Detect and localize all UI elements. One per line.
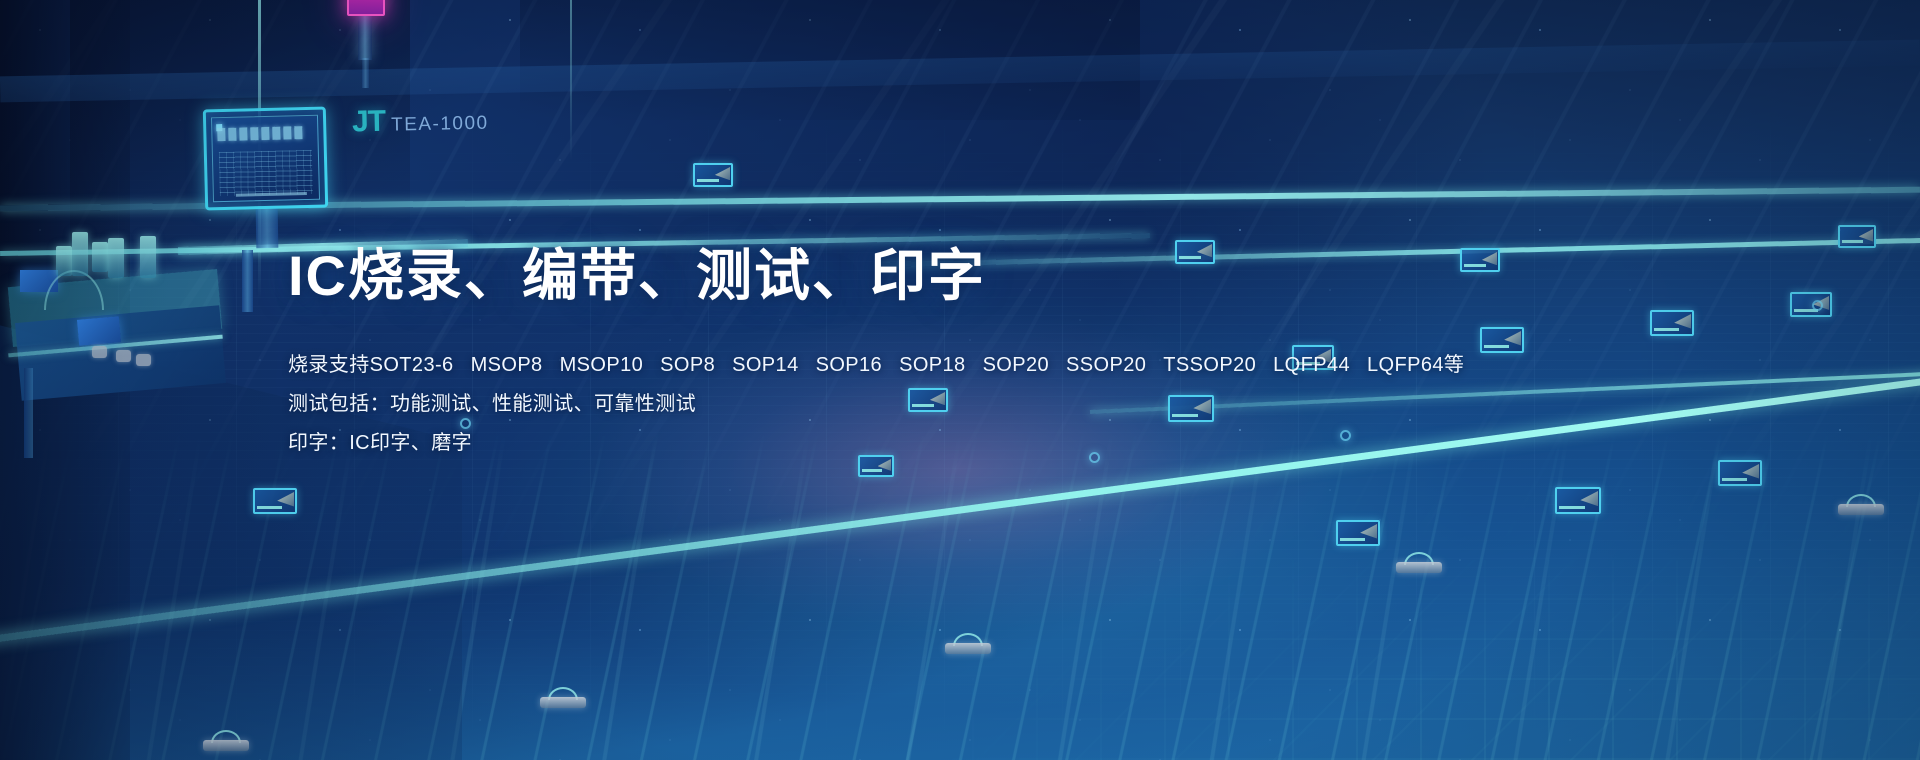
page-title: IC烧录、编带、测试、印字 — [288, 246, 1588, 306]
pneumatic-cylinder — [56, 246, 72, 276]
pneumatic-cylinder — [92, 242, 108, 272]
monitor-glyph-icon — [1555, 487, 1601, 514]
package-name: SOT23-6 — [370, 346, 454, 385]
package-name: SSOP20 — [1066, 346, 1146, 385]
pneumatic-cylinder — [140, 236, 156, 278]
rail-mount-bracket — [540, 687, 586, 707]
package-name: LQFP64等 — [1367, 346, 1464, 385]
monitor-screen — [211, 115, 320, 203]
package-name: SOP8 — [660, 346, 715, 385]
monitor-glyph-icon — [1838, 225, 1876, 248]
subline-marking-scope: 印字：IC印字、磨字 — [288, 424, 1588, 463]
monitor-glyph-icon — [1336, 520, 1380, 546]
package-name: TSSOP20 — [1163, 346, 1256, 385]
monitor-glyph-icon — [693, 163, 733, 187]
burning-support-prefix: 烧录支持 — [288, 354, 370, 376]
rail-mount-bracket — [945, 633, 991, 653]
package-name: LQFP44 — [1273, 346, 1350, 385]
package-name: MSOP8 — [471, 346, 543, 385]
rail-mount-bracket — [1838, 494, 1884, 514]
nozzle-clamp — [136, 354, 151, 366]
banner-subtitle-group: 烧录支持SOT23-6MSOP8MSOP10SOP8SOP14SOP16SOP1… — [288, 346, 1588, 463]
package-name: SOP16 — [816, 346, 882, 385]
pneumatic-cylinder — [108, 238, 124, 278]
monitor-glyph-icon — [1650, 310, 1694, 336]
package-name: SOP14 — [732, 346, 798, 385]
node-ring-icon — [1812, 300, 1823, 311]
subline-testing-scope: 测试包括：功能测试、性能测试、可靠性测试 — [288, 385, 1588, 424]
operator-monitor — [203, 107, 328, 211]
brand-name: JT — [352, 105, 386, 140]
package-name: SOP18 — [899, 346, 965, 385]
monitor-glyph-icon — [1790, 292, 1832, 317]
package-name: MSOP10 — [560, 346, 644, 385]
vertical-light-column-mid — [570, 0, 572, 160]
package-name: SOP20 — [983, 346, 1049, 385]
nozzle-clamp — [92, 346, 107, 358]
subline-burning-support: 烧录支持SOT23-6MSOP8MSOP10SOP8SOP14SOP16SOP1… — [288, 346, 1588, 385]
rail-mount-bracket — [203, 730, 249, 750]
monitor-glyph-icon — [1718, 460, 1762, 486]
pcb-trace-texture — [780, 560, 1920, 760]
rail-mount-bracket — [1396, 552, 1442, 572]
screen-bar-row — [217, 126, 302, 141]
pick-and-place-machine — [0, 218, 225, 388]
model-number: TEA-1000 — [391, 113, 489, 137]
machine-feeder-box — [77, 316, 121, 346]
package-list: SOT23-6MSOP8MSOP10SOP8SOP14SOP16SOP18SOP… — [370, 354, 1465, 376]
nozzle-clamp — [116, 350, 131, 362]
monitor-glyph-icon — [253, 488, 297, 514]
equipment-brand-logo: JT TEA-1000 — [352, 103, 489, 140]
shelf-support-pole — [242, 250, 253, 312]
screen-footer-bar — [236, 192, 307, 197]
screen-data-grid — [219, 150, 313, 196]
overhead-post-lower — [362, 58, 369, 88]
hero-banner: JT TEA-1000 — [0, 0, 1920, 760]
banner-text-block: IC烧录、编带、测试、印字 烧录支持SOT23-6MSOP8MSOP10SOP8… — [288, 246, 1588, 463]
overhead-post — [358, 14, 372, 60]
pneumatic-cylinder — [72, 232, 88, 276]
machine-support-leg — [24, 368, 33, 458]
magenta-indicator-display — [347, 0, 385, 16]
monitor-stand-neck — [256, 208, 279, 248]
